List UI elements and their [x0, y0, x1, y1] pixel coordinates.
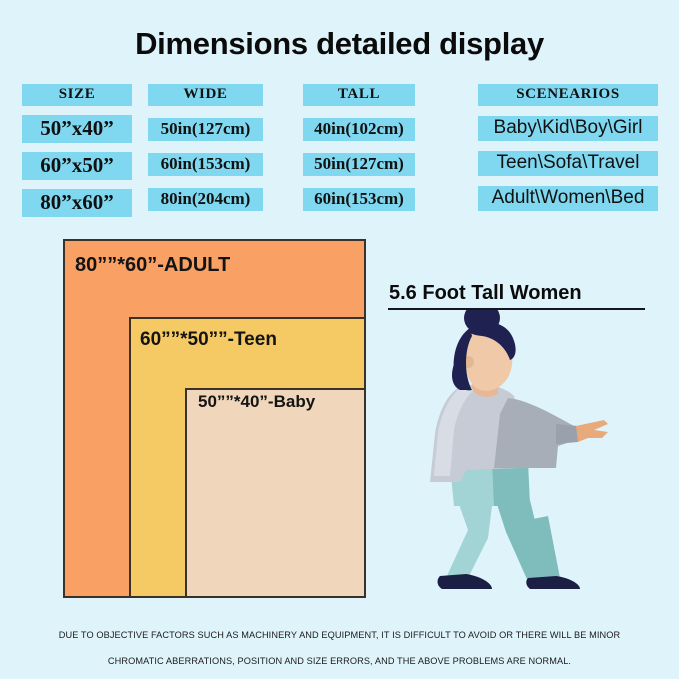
spec-header-scenarios: SCENEARIOS [478, 84, 658, 106]
size-rect-label-adult: 80””*60”-ADULT [75, 254, 230, 277]
spec-cell-scenarios-2: Teen\Sofa\Travel [478, 151, 658, 176]
disclaimer-footer: DUE TO OBJECTIVE FACTORS SUCH AS MACHINE… [0, 622, 679, 674]
disclaimer-line-1: DUE TO OBJECTIVE FACTORS SUCH AS MACHINE… [0, 622, 679, 648]
front-shoe-shape [438, 574, 492, 589]
disclaimer-line-2: CHROMATIC ABERRATIONS, POSITION AND SIZE… [0, 648, 679, 674]
size-rect-baby [185, 388, 366, 598]
size-rect-label-baby: 50””*40”-Baby [198, 392, 315, 412]
sleeve-cuff-shape [556, 424, 578, 444]
spec-column-scenarios: SCENEARIOS Baby\Kid\Boy\Girl Teen\Sofa\T… [478, 84, 658, 211]
dimensions-infographic: Dimensions detailed display SIZE 50”x40”… [0, 0, 679, 679]
spec-cell-scenarios-1: Baby\Kid\Boy\Girl [478, 116, 658, 141]
size-rect-label-teen: 60””*50””-Teen [140, 329, 277, 351]
height-reference-panel: 5.6 Foot Tall Women [388, 282, 679, 612]
back-shoe-shape [526, 576, 580, 589]
height-reference-title: 5.6 Foot Tall Women [389, 282, 582, 305]
walking-woman-illustration [388, 310, 679, 610]
hand-shape [576, 420, 608, 442]
spec-cell-scenarios-3: Adult\Women\Bed [478, 186, 658, 211]
size-comparison-diagram: 80””*60”-ADULT 60””*50””-Teen 50””*40”-B… [0, 0, 400, 679]
